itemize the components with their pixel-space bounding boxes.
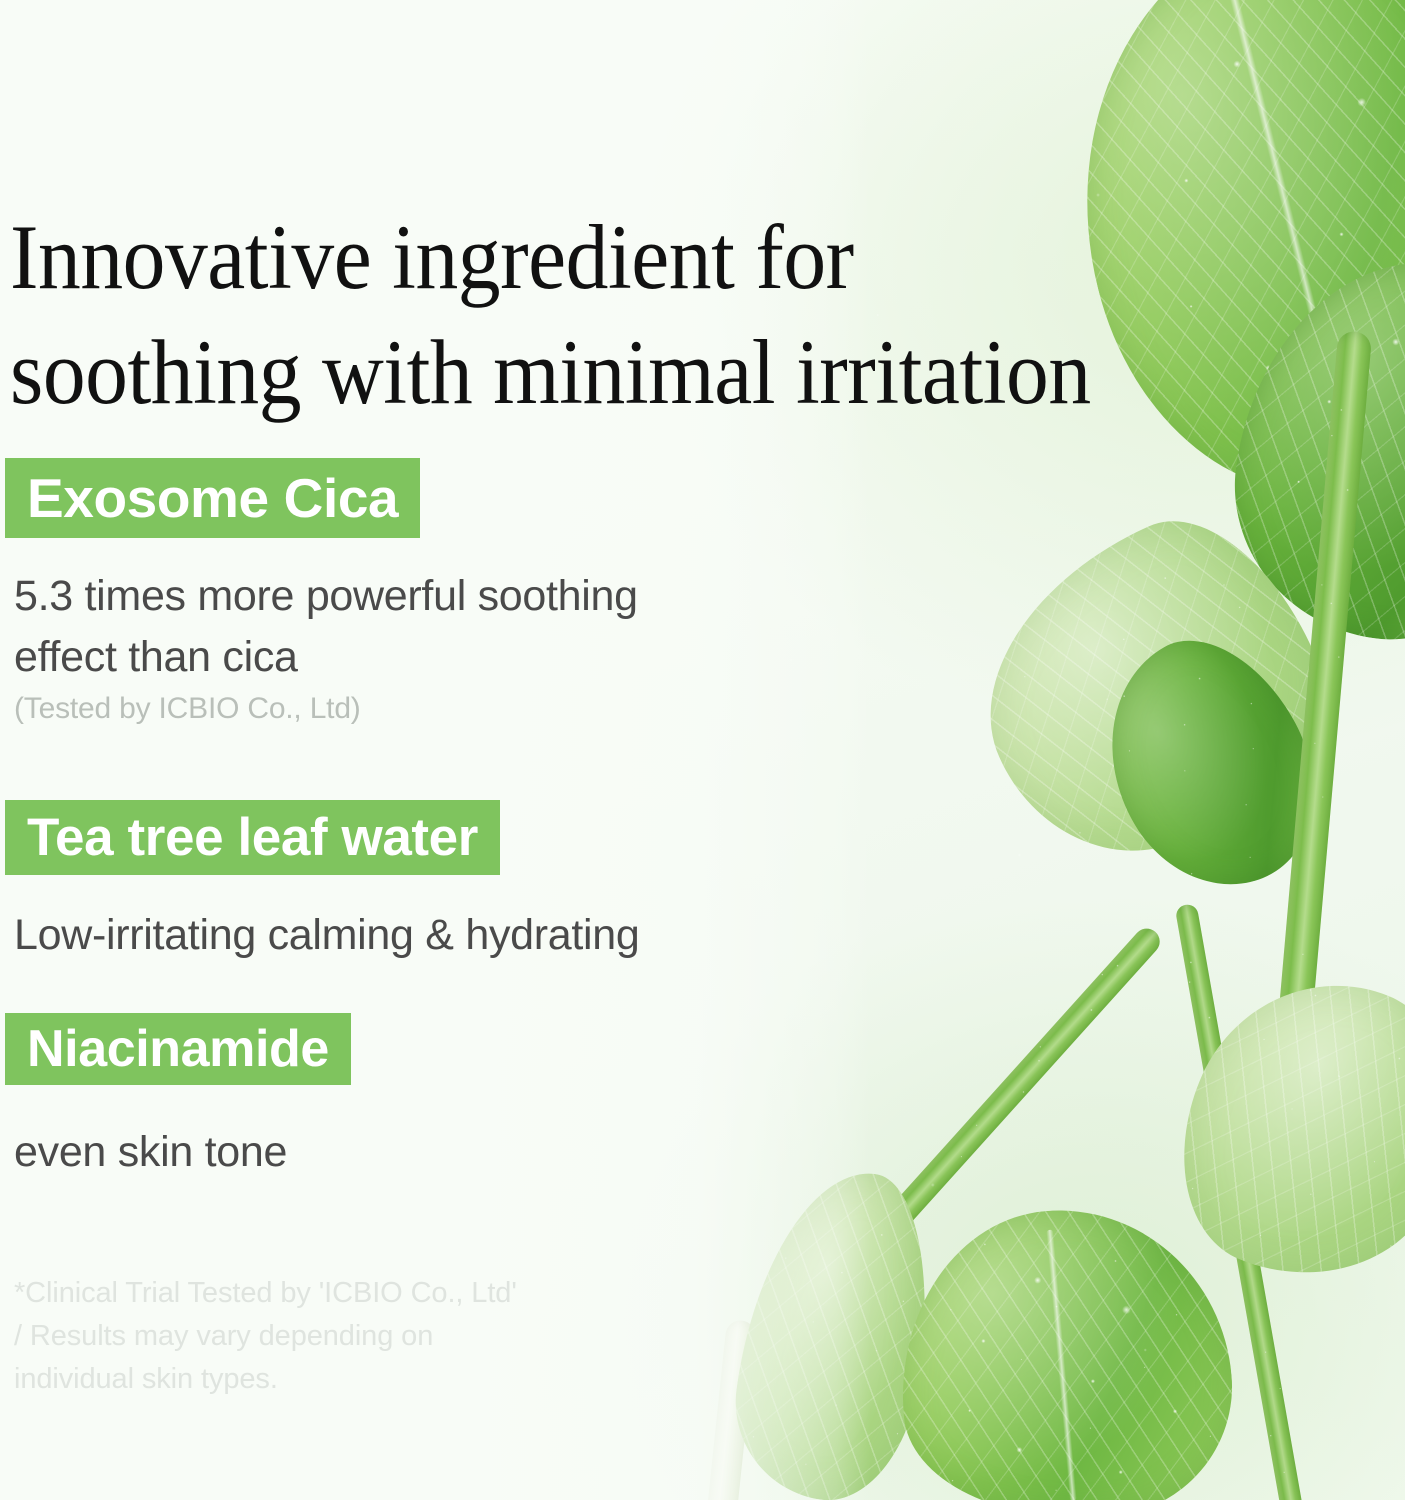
ingredient-banner: Innovative ingredient for soothing with … bbox=[0, 0, 1405, 1500]
ingredient-description-niacinamide: even skin tone bbox=[14, 1122, 714, 1183]
ingredient-badge-exosome-cica: Exosome Cica bbox=[5, 458, 420, 538]
clinical-trial-footnote: *Clinical Trial Tested by 'ICBIO Co., Lt… bbox=[14, 1272, 674, 1401]
ingredient-badge-tea-tree-leaf-water: Tea tree leaf water bbox=[5, 800, 500, 875]
ingredient-badge-niacinamide: Niacinamide bbox=[5, 1013, 351, 1085]
ingredient-description-tea-tree-leaf-water: Low-irritating calming & hydrating bbox=[14, 905, 834, 966]
ingredient-description-exosome-cica: 5.3 times more powerful soothing effect … bbox=[14, 566, 814, 688]
ingredient-note-exosome-cica: (Tested by ICBIO Co., Ltd) bbox=[14, 692, 361, 726]
content-layer: Innovative ingredient for soothing with … bbox=[0, 0, 1405, 1500]
page-title: Innovative ingredient for soothing with … bbox=[10, 200, 1210, 430]
